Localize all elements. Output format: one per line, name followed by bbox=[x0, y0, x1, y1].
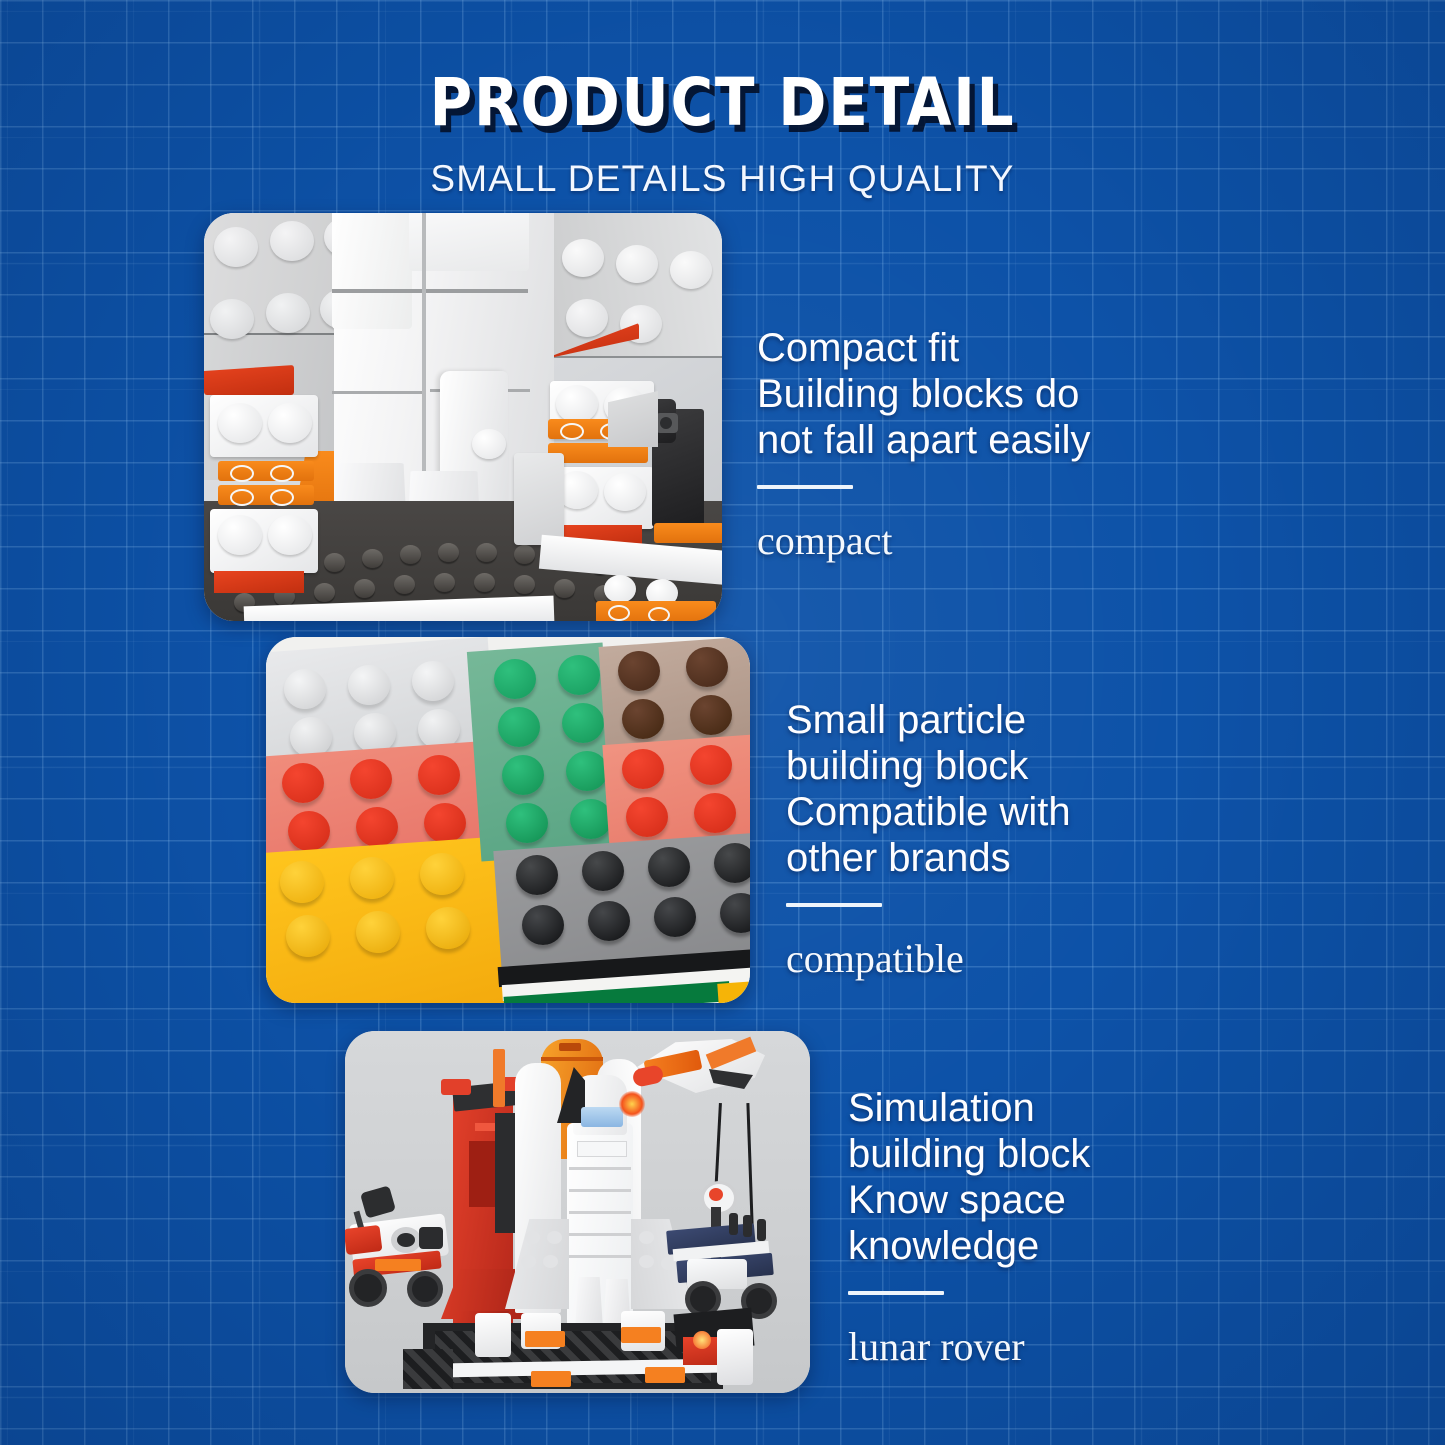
feature-headline-line: Simulation bbox=[848, 1085, 1248, 1131]
feature-headline-line: not fall apart easily bbox=[757, 417, 1157, 463]
feature-headline-line: Compatible with bbox=[786, 789, 1186, 835]
space-shuttle-set-illustration bbox=[345, 1031, 810, 1393]
feature-divider bbox=[757, 485, 853, 489]
feature-caption: compact bbox=[757, 517, 1157, 564]
feature-text-simulation: Simulation building block Know space kno… bbox=[848, 1085, 1248, 1370]
page-subtitle: SMALL DETAILS HIGH QUALITY bbox=[0, 158, 1445, 200]
feature-caption: compatible bbox=[786, 935, 1186, 982]
feature-headline-line: other brands bbox=[786, 835, 1186, 881]
feature-headline-line: Compact fit bbox=[757, 325, 1157, 371]
launch-pad-closeup-illustration bbox=[204, 213, 722, 621]
feature-headline-line: Know space bbox=[848, 1177, 1248, 1223]
feature-headline-line: Building blocks do bbox=[757, 371, 1157, 417]
feature-text-compatible: Small particle building block Compatible… bbox=[786, 697, 1186, 982]
feature-divider bbox=[786, 903, 882, 907]
feature-headline-line: building block bbox=[848, 1131, 1248, 1177]
feature-caption: lunar rover bbox=[848, 1323, 1248, 1370]
feature-image-compatible bbox=[266, 637, 750, 1003]
feature-image-simulation bbox=[345, 1031, 810, 1393]
feature-image-compact bbox=[204, 213, 722, 621]
feature-headline-line: Small particle bbox=[786, 697, 1186, 743]
feature-headline-line: knowledge bbox=[848, 1223, 1248, 1269]
feature-headline-line: building block bbox=[786, 743, 1186, 789]
page-title: PRODUCT DETAIL bbox=[87, 70, 1359, 136]
feature-text-compact: Compact fit Building blocks do not fall … bbox=[757, 325, 1157, 564]
feature-divider bbox=[848, 1291, 944, 1295]
colored-bricks-illustration bbox=[266, 637, 750, 1003]
product-detail-page: PRODUCT DETAIL SMALL DETAILS HIGH QUALIT… bbox=[0, 0, 1445, 1445]
page-header: PRODUCT DETAIL SMALL DETAILS HIGH QUALIT… bbox=[0, 0, 1445, 200]
